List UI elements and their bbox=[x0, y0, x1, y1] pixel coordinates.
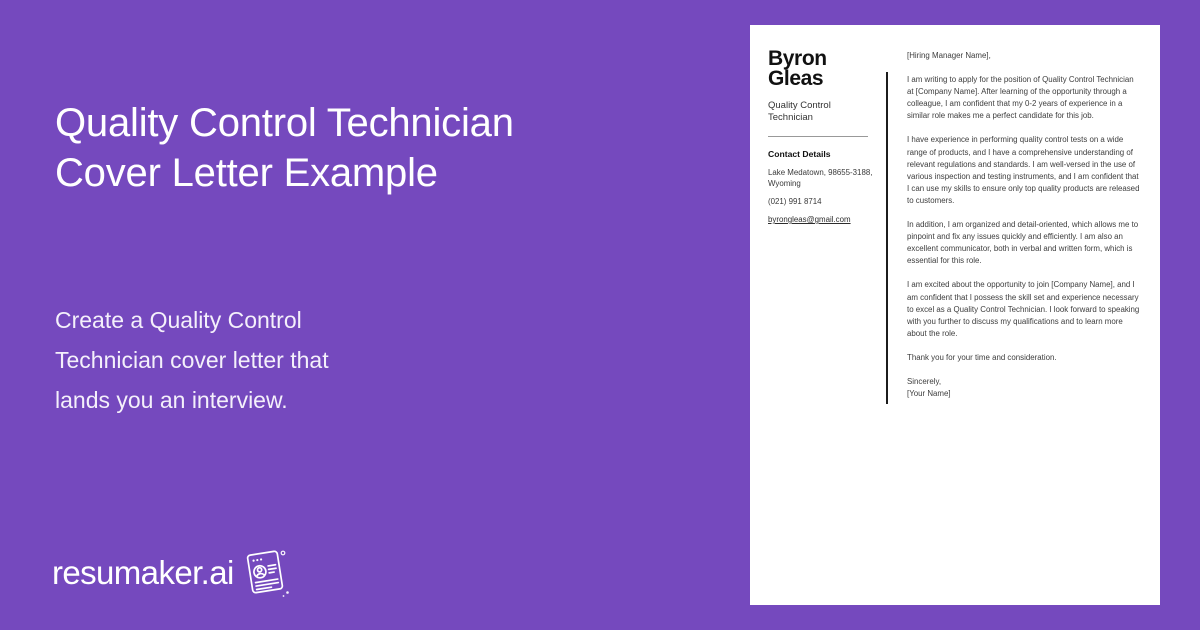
letter-closing: Sincerely, bbox=[907, 376, 1142, 388]
page-title: Quality Control Technician Cover Letter … bbox=[55, 98, 675, 198]
contact-details-heading: Contact Details bbox=[768, 149, 878, 160]
contact-address: Lake Medatown, 98655-3188, Wyoming bbox=[768, 167, 878, 189]
promo-panel: Quality Control Technician Cover Letter … bbox=[0, 0, 740, 630]
cover-letter-document[interactable]: Byron Gleas Quality Control Technician C… bbox=[750, 25, 1160, 605]
letter-salutation: [Hiring Manager Name], bbox=[907, 50, 1142, 62]
contact-email[interactable]: byrongleas@gmail.com bbox=[768, 214, 878, 225]
sidebar-divider bbox=[768, 136, 868, 137]
candidate-name: Byron Gleas bbox=[768, 45, 878, 89]
letter-signature: [Your Name] bbox=[907, 388, 1142, 400]
contact-phone: (021) 991 8714 bbox=[768, 196, 878, 207]
letter-paragraph: In addition, I am organized and detail-o… bbox=[907, 219, 1142, 267]
letter-body: [Hiring Manager Name], I am writing to a… bbox=[888, 45, 1142, 595]
letter-paragraph: I am excited about the opportunity to jo… bbox=[907, 279, 1142, 339]
letter-paragraph: I have experience in performing quality … bbox=[907, 134, 1142, 207]
logo-wordmark: resumaker.ai bbox=[52, 556, 234, 589]
letter-thanks: Thank you for your time and consideratio… bbox=[907, 352, 1142, 364]
promo-subtitle: Create a Quality Control Technician cove… bbox=[55, 300, 475, 420]
candidate-role: Quality Control Technician bbox=[768, 100, 878, 124]
resumaker-logo[interactable]: resumaker.ai bbox=[52, 544, 293, 600]
letter-sidebar: Byron Gleas Quality Control Technician C… bbox=[768, 45, 886, 595]
letter-paragraph: I am writing to apply for the position o… bbox=[907, 74, 1142, 122]
resume-document-icon bbox=[237, 544, 293, 600]
